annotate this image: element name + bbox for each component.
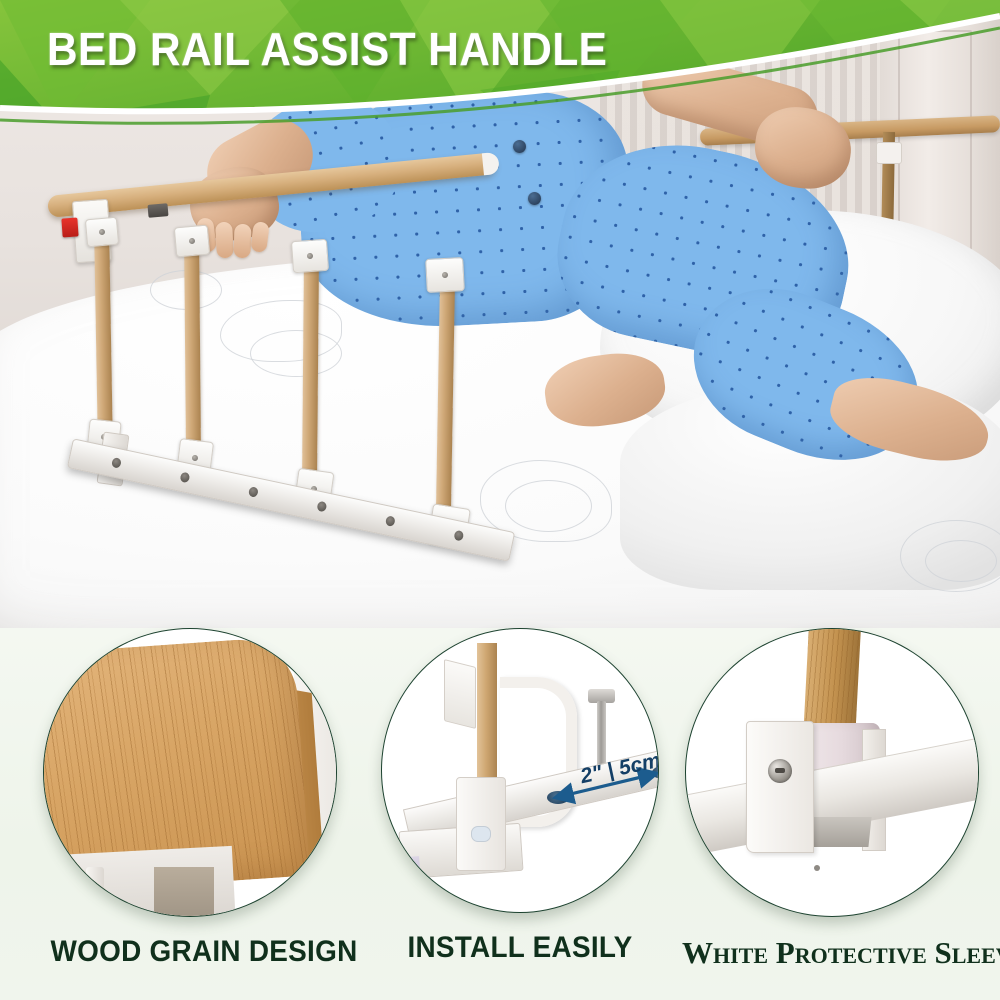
feature-wood-grain-design[interactable]: WOOD GRAIN DESIGN	[40, 628, 340, 969]
feature-caption: INSTALL EASILY	[381, 931, 660, 965]
feature-image-wood-grain	[43, 628, 337, 917]
upper-mount-plate	[444, 659, 476, 729]
feature-image-protective-sleeve	[685, 628, 979, 917]
feature-install-easily[interactable]: 2" | 5cm INSTALL EASILY	[370, 628, 670, 965]
rail-top-bracket	[174, 225, 210, 258]
base-rail-hole	[111, 457, 122, 469]
red-release-button	[61, 217, 78, 237]
rail-post	[94, 238, 112, 438]
rail-post	[436, 270, 455, 518]
hero-photo	[0, 0, 1000, 628]
rail-grey-cap	[147, 203, 168, 218]
rail-post	[184, 232, 201, 450]
rail-top-bracket	[85, 217, 119, 248]
product-infographic: BED RAIL ASSIST HANDLE WOOD GRAIN DESIGN	[0, 0, 1000, 1000]
screw-icon	[768, 759, 792, 783]
feature-image-install-easily: 2" | 5cm	[381, 628, 659, 913]
shadow-gap	[154, 867, 214, 917]
front-mount-plate	[746, 721, 814, 853]
wood-top-rail	[47, 152, 497, 218]
base-rail-hole	[453, 530, 464, 542]
rail-top-bracket	[425, 257, 465, 293]
base-rail-hole	[385, 515, 396, 527]
feature-panel: WOOD GRAIN DESIGN	[0, 628, 1000, 1000]
rail-top-bracket	[291, 239, 329, 273]
base-rail-hole	[248, 486, 259, 498]
rail-end-cap	[482, 152, 500, 175]
base-end-cap	[393, 856, 421, 884]
rail-hole	[814, 865, 820, 871]
feature-white-protective-sleeve[interactable]: White Protective Sleeve	[682, 628, 982, 971]
base-rail-hole	[179, 472, 190, 484]
metal-fitting	[810, 817, 871, 847]
post-clamp	[456, 777, 506, 871]
measurement-hole	[547, 791, 569, 804]
bracket-tab	[86, 867, 104, 911]
rail-post	[302, 252, 319, 484]
base-rail-hole	[316, 501, 327, 513]
feature-caption: White Protective Sleeve	[682, 935, 982, 971]
bed-rail-product	[0, 0, 1000, 628]
feature-caption: WOOD GRAIN DESIGN	[51, 935, 330, 969]
